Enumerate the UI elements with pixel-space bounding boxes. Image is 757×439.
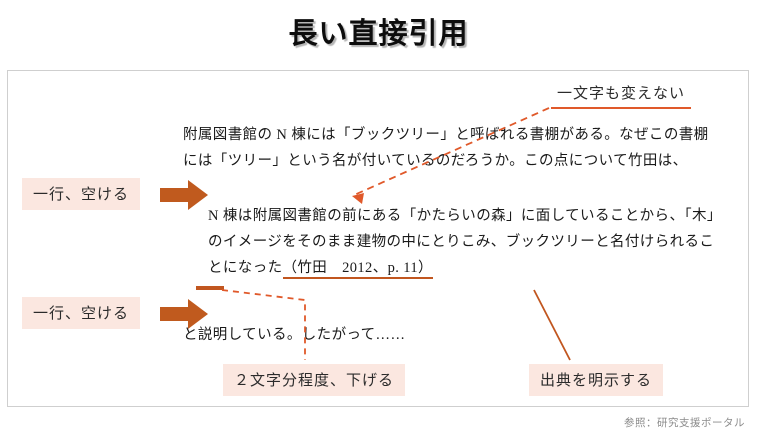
slide-root: 長い直接引用 附属図書館の N 棟には「ブックツリー」と呼ばれる書棚がある。なぜ… [0, 0, 757, 439]
indent-marker-icon [196, 286, 224, 290]
annotation-blank-line-2: 一行、空ける [22, 297, 140, 329]
intro-paragraph: 附属図書館の N 棟には「ブックツリー」と呼ばれる書棚がある。なぜこの書棚には「… [183, 122, 723, 174]
quote-block: N 棟は附属図書館の前にある「かたらいの森」に面していることから、「木」のイメー… [208, 203, 720, 281]
block-arrow-icon-2 [160, 299, 208, 329]
quote-citation: （竹田 2012、p. 11） [283, 260, 433, 279]
closing-paragraph: と説明している。したがって…… [183, 322, 583, 348]
annotation-show-source: 出典を明示する [529, 364, 663, 396]
annotation-no-change: 一文字も変えない [551, 82, 691, 109]
annotation-indent-two-chars: ２文字分程度、下げる [223, 364, 405, 396]
annotation-blank-line-1: 一行、空ける [22, 178, 140, 210]
block-arrow-icon-1 [160, 180, 208, 210]
footer-reference: 参照：研究支援ポータル [624, 415, 745, 430]
page-title: 長い直接引用 [0, 10, 757, 52]
